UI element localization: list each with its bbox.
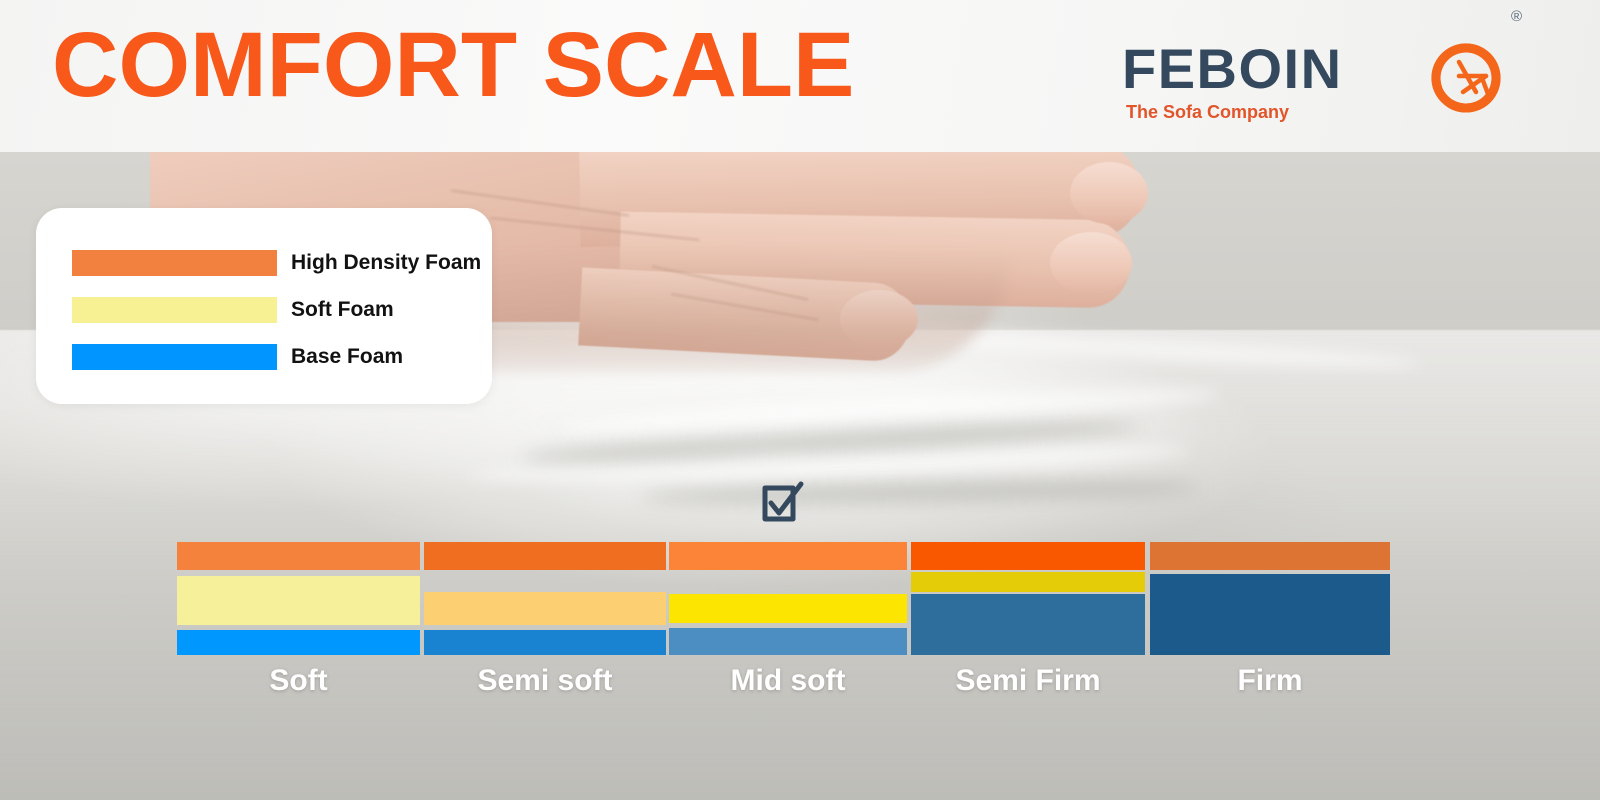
registered-trademark-icon: ® — [1511, 8, 1522, 25]
scale-column-label: Semi Firm — [911, 664, 1145, 698]
segment-soft-foam — [911, 572, 1145, 592]
scale-column-soft[interactable]: Soft — [177, 0, 420, 800]
comfort-scale-chart: Soft Semi soft Mid soft Semi Firm F — [0, 0, 1600, 800]
scale-column-label: Firm — [1150, 664, 1390, 698]
scale-column-semi-soft[interactable]: Semi soft — [424, 0, 666, 800]
segment-high-density-foam — [911, 542, 1145, 570]
comfort-scale-infographic: COMFORT SCALE FEBOIN The Sofa Company — [0, 0, 1600, 800]
segment-soft-foam — [424, 592, 666, 625]
scale-column-firm[interactable]: Firm — [1150, 0, 1390, 800]
segment-soft-foam — [669, 594, 907, 623]
segment-high-density-foam — [177, 542, 420, 570]
scale-column-mid-soft[interactable]: Mid soft — [669, 0, 907, 800]
scale-column-label: Soft — [177, 664, 420, 698]
segment-base-foam — [177, 630, 420, 655]
scale-column-semi-firm[interactable]: Semi Firm — [911, 0, 1145, 800]
segment-base-foam — [911, 594, 1145, 655]
segment-soft-foam — [177, 576, 420, 625]
segment-base-foam — [424, 630, 666, 655]
scale-column-label: Mid soft — [669, 664, 907, 698]
segment-base-foam — [1150, 574, 1390, 655]
segment-high-density-foam — [669, 542, 907, 570]
segment-high-density-foam — [424, 542, 666, 570]
chair-in-circle-icon — [1414, 26, 1518, 130]
segment-high-density-foam — [1150, 542, 1390, 570]
scale-column-label: Semi soft — [424, 664, 666, 698]
segment-base-foam — [669, 628, 907, 655]
